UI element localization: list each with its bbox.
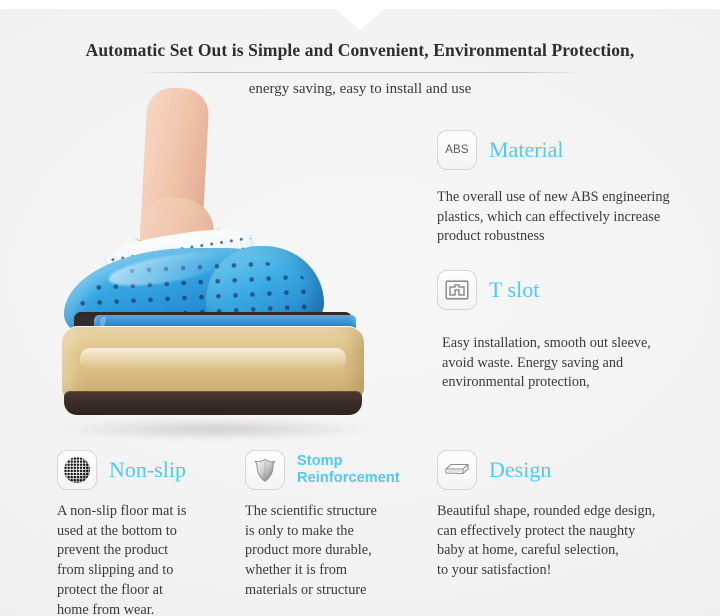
feature-body: A non-slip floor mat is used at the bott… <box>57 502 237 616</box>
machine-dark-base <box>64 391 362 415</box>
dotted-circle-icon <box>57 450 97 490</box>
machine-shadow <box>56 418 374 440</box>
feature-material: ABS Material The overall use of new ABS … <box>437 130 720 247</box>
dotted-circle-glyph <box>64 457 90 483</box>
feature-header: T slot <box>437 270 720 310</box>
feature-stomp-reinforcement: Stomp Reinforcement The scientific struc… <box>245 450 430 601</box>
feature-title: Stomp Reinforcement <box>297 453 430 487</box>
feature-header: ABS Material <box>437 130 720 170</box>
abs-icon: ABS <box>437 130 477 170</box>
feature-title: T slot <box>489 278 539 301</box>
feature-title: Design <box>489 458 551 481</box>
shield-icon <box>245 450 285 490</box>
feature-design: Design Beautiful shape, rounded edge des… <box>437 450 720 581</box>
abs-icon-label: ABS <box>445 144 469 156</box>
product-infographic: Automatic Set Out is Simple and Convenie… <box>0 0 720 616</box>
feature-title: Material <box>489 138 564 161</box>
machine-gold-body <box>62 326 364 400</box>
feature-body: Beautiful shape, rounded edge design, ca… <box>437 502 720 581</box>
feature-t-slot: T slot Easy installation, smooth out sle… <box>437 270 720 393</box>
feature-header: Non-slip <box>57 450 237 490</box>
feature-non-slip: Non-slip A non-slip floor mat is used at… <box>57 450 237 616</box>
page-title: Automatic Set Out is Simple and Convenie… <box>0 40 720 61</box>
shoe-cover-machine <box>62 312 364 416</box>
product-photo <box>48 88 378 433</box>
feature-header: Design <box>437 450 720 490</box>
feature-body: Easy installation, smooth out sleeve, av… <box>442 334 720 393</box>
t-slot-icon <box>437 270 477 310</box>
top-notch-triangle <box>334 8 386 30</box>
feature-body: The overall use of new ABS engineering p… <box>437 188 720 247</box>
feature-body: The scientific structure is only to make… <box>245 502 430 601</box>
box-outline-icon <box>437 450 477 490</box>
feature-title: Non-slip <box>109 458 186 481</box>
header-divider <box>139 72 581 73</box>
feature-header: Stomp Reinforcement <box>245 450 430 490</box>
machine-body-sheen <box>80 348 346 370</box>
